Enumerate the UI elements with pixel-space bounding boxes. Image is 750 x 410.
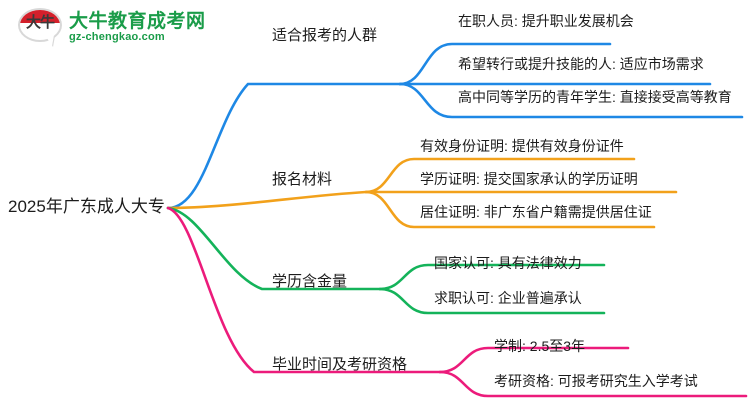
leaf-2-0[interactable]: 国家认可: 具有法律效力 bbox=[434, 256, 582, 270]
leaf-1-2[interactable]: 居住证明: 非广东省户籍需提供居住证 bbox=[420, 205, 652, 219]
leaf-2-1[interactable]: 求职认可: 企业普遍承认 bbox=[434, 291, 582, 305]
leaf-0-0[interactable]: 在职人员: 提升职业发展机会 bbox=[458, 14, 634, 28]
leaf-1-1[interactable]: 学历证明: 提交国家承认的学历证明 bbox=[420, 172, 638, 186]
branch-label-0[interactable]: 适合报考的人群 bbox=[272, 28, 377, 43]
leaf-0-2[interactable]: 高中同等学历的青年学生: 直接接受高等教育 bbox=[458, 90, 732, 104]
wire-root-to-branch-1 bbox=[168, 192, 366, 208]
branch-label-1[interactable]: 报名材料 bbox=[272, 172, 332, 187]
wire-root-to-branch-0 bbox=[168, 84, 400, 208]
leaf-0-1[interactable]: 希望转行或提升技能的人: 适应市场需求 bbox=[458, 57, 704, 71]
mindmap-canvas: 大牛 大牛教育成考网 gz-chengkao.com 2025年广东成人大专 适… bbox=[0, 0, 750, 410]
leaf-3-0[interactable]: 学制: 2.5至3年 bbox=[494, 339, 585, 353]
leaf-3-1[interactable]: 考研资格: 可报考研究生入学考试 bbox=[494, 374, 698, 388]
branch-label-3[interactable]: 毕业时间及考研资格 bbox=[272, 357, 407, 372]
mindmap-root-node[interactable]: 2025年广东成人大专 bbox=[8, 198, 165, 215]
leaf-1-0[interactable]: 有效身份证明: 提供有效身份证件 bbox=[420, 139, 624, 153]
branch-label-2[interactable]: 学历含金量 bbox=[272, 274, 347, 289]
